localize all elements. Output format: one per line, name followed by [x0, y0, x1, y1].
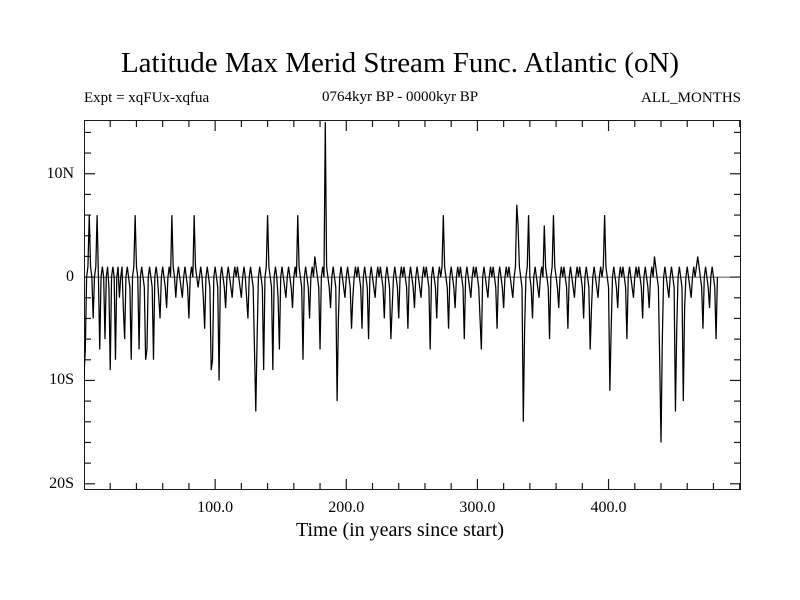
- x-tick-label: 200.0: [301, 500, 391, 516]
- y-tick-label: 0: [0, 269, 74, 285]
- x-tick-label: 300.0: [432, 500, 522, 516]
- page-title: Latitude Max Merid Stream Func. Atlantic…: [0, 46, 800, 80]
- y-tick-label: 20S: [0, 476, 74, 492]
- y-tick-label: 10N: [0, 166, 74, 182]
- plot-canvas: [84, 120, 741, 490]
- x-tick-label: 100.0: [170, 500, 260, 516]
- y-tick-label: 10S: [0, 372, 74, 388]
- x-axis-title: Time (in years since start): [0, 518, 800, 542]
- x-tick-label: 400.0: [564, 500, 654, 516]
- months-label: ALL_MONTHS: [0, 89, 741, 107]
- plot-page: Latitude Max Merid Stream Func. Atlantic…: [0, 0, 800, 600]
